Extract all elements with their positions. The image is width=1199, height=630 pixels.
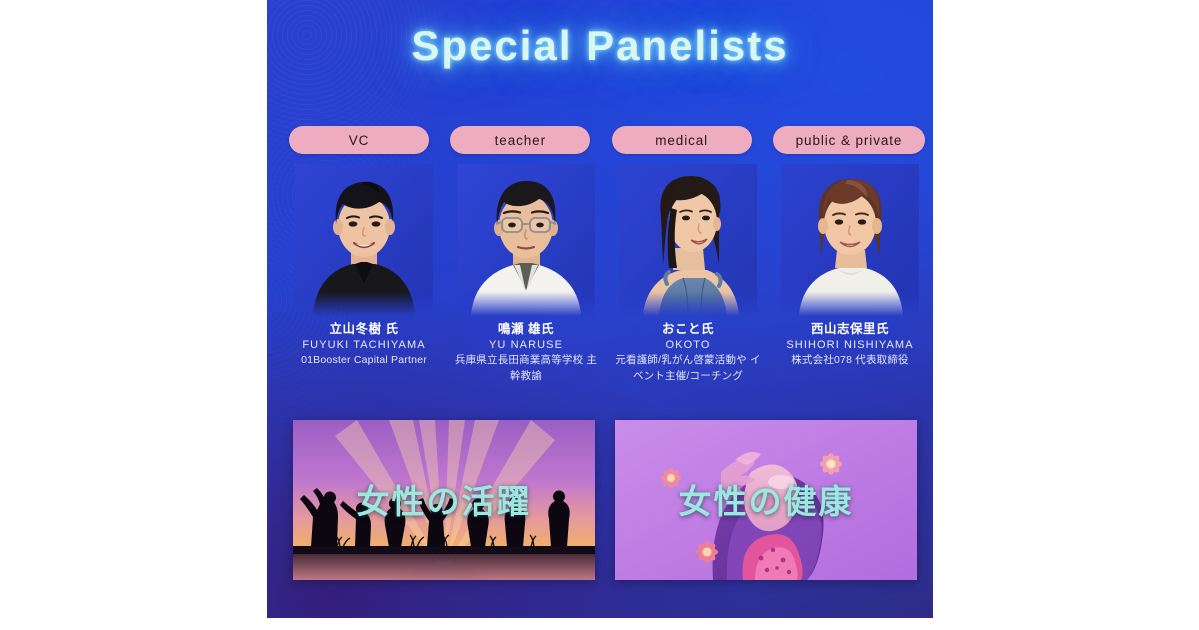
panelist-photo-naruse — [457, 164, 595, 316]
banner-caption-health: 女性の健康 — [615, 475, 917, 523]
panelist-name-ja: 立山冬樹 氏 — [330, 322, 399, 338]
panelist-photo-okoto — [619, 164, 757, 316]
category-pill-medical: medical — [612, 126, 752, 154]
banner-row: 女性の活躍 — [293, 420, 917, 580]
panelist-name-romaji: SHIHORI NISHIYAMA — [786, 338, 913, 353]
panelist-role: 兵庫県立長田商業高等学校 主幹教諭 — [451, 353, 601, 383]
panelist-card: 西山志保里氏 SHIHORI NISHIYAMA 株式会社078 代表取締役 — [775, 164, 925, 369]
panelist-photo-tachiyama — [295, 164, 433, 316]
panelist-role: 01Booster Capital Partner — [301, 353, 427, 368]
category-pill-row: VC teacher medical public & private — [289, 126, 925, 154]
panelist-list: 立山冬樹 氏 FUYUKI TACHIYAMA 01Booster Capita… — [289, 164, 925, 384]
slide-title: Special Panelists — [267, 22, 933, 70]
screenshot-canvas: Special Panelists VC teacher medical pub… — [0, 0, 1199, 630]
panelist-role: 株式会社078 代表取締役 — [791, 353, 909, 368]
panelist-card: おこと氏 OKOTO 元看護師/乳がん啓蒙活動や イベント主催/コーチング — [613, 164, 763, 384]
panelist-role: 元看護師/乳がん啓蒙活動や イベント主催/コーチング — [613, 353, 763, 383]
panelist-name-romaji: FUYUKI TACHIYAMA — [302, 338, 425, 353]
panelist-card: 立山冬樹 氏 FUYUKI TACHIYAMA 01Booster Capita… — [289, 164, 439, 369]
category-pill-teacher: teacher — [450, 126, 590, 154]
panelist-photo-nishiyama — [781, 164, 919, 316]
banner-womens-advancement: 女性の活躍 — [293, 420, 595, 580]
panelist-name-ja: 鳴瀬 雄氏 — [498, 322, 554, 338]
banner-womens-health: 女性の健康 — [615, 420, 917, 580]
panelist-name-romaji: YU NARUSE — [489, 338, 563, 353]
panelist-name-ja: おこと氏 — [662, 322, 714, 338]
panelist-card: 鳴瀬 雄氏 YU NARUSE 兵庫県立長田商業高等学校 主幹教諭 — [451, 164, 601, 384]
category-pill-public-private: public & private — [773, 126, 925, 154]
panelist-name-romaji: OKOTO — [665, 338, 710, 353]
category-pill-vc: VC — [289, 126, 429, 154]
banner-caption-advancement: 女性の活躍 — [293, 475, 595, 523]
panelist-name-ja: 西山志保里氏 — [811, 322, 889, 338]
presentation-slide: Special Panelists VC teacher medical pub… — [267, 0, 933, 618]
